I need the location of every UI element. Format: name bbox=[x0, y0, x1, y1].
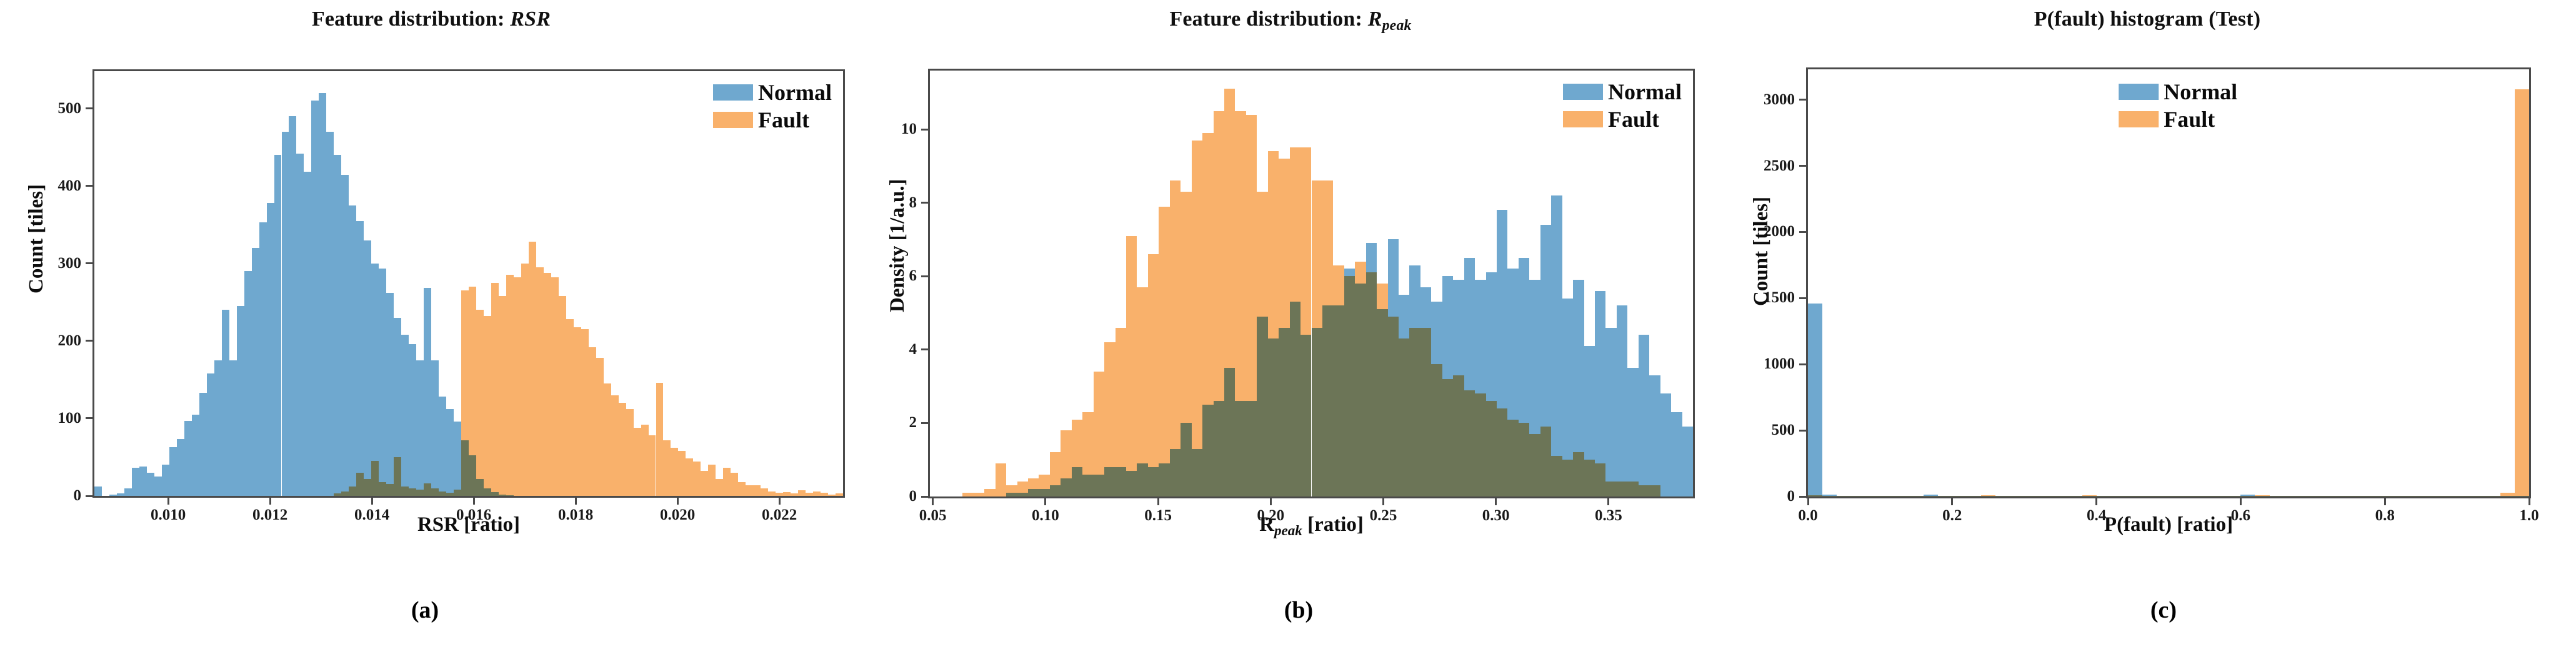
y-axis-tick-label: 0 bbox=[862, 488, 917, 505]
legend-swatch-normal-icon bbox=[1563, 84, 1603, 100]
y-axis-tick bbox=[1799, 99, 1806, 101]
histogram-bar bbox=[2327, 496, 2342, 497]
histogram-bar bbox=[2284, 496, 2299, 497]
histogram-bar bbox=[1442, 379, 1453, 496]
histogram-bar bbox=[566, 319, 574, 496]
panel-a-plot-area: Normal Fault bbox=[92, 69, 845, 498]
panel-c-fault-bars bbox=[1808, 69, 2529, 496]
histogram-bar bbox=[379, 482, 386, 496]
histogram-bar bbox=[1808, 495, 1822, 496]
histogram-bar bbox=[1938, 496, 1952, 497]
legend-item-fault: Fault bbox=[2119, 106, 2237, 133]
histogram-bar bbox=[2313, 496, 2327, 497]
histogram-bar bbox=[2024, 496, 2039, 497]
histogram-bar bbox=[1497, 408, 1507, 496]
histogram-bar bbox=[1924, 496, 1938, 497]
histogram-bar bbox=[1865, 496, 1880, 497]
histogram-bar bbox=[356, 473, 364, 496]
panel-b-caption: (b) bbox=[1284, 596, 1313, 624]
histogram-bar bbox=[2399, 496, 2414, 497]
x-axis-tick bbox=[2095, 498, 2097, 505]
x-axis-tick bbox=[1157, 498, 1159, 505]
y-axis-tick-label: 500 bbox=[0, 100, 81, 117]
x-axis-tick bbox=[371, 498, 373, 505]
histogram-bar bbox=[2097, 496, 2111, 497]
histogram-bar bbox=[2472, 496, 2486, 497]
histogram-bar bbox=[984, 489, 995, 496]
histogram-bar bbox=[1431, 364, 1442, 496]
x-axis-tick bbox=[1382, 498, 1384, 505]
histogram-bar bbox=[2385, 496, 2399, 497]
histogram-bar bbox=[476, 310, 484, 496]
histogram-bar bbox=[1409, 328, 1420, 496]
histogram-bar bbox=[1192, 141, 1202, 496]
histogram-bar bbox=[2010, 496, 2024, 497]
histogram-bar bbox=[1137, 287, 1147, 496]
panel-a-title: Feature distribution: RSR bbox=[0, 7, 862, 34]
histogram-bar bbox=[1126, 236, 1137, 496]
histogram-bar bbox=[663, 440, 671, 496]
x-axis-tick bbox=[1270, 498, 1272, 505]
histogram-bar bbox=[521, 264, 529, 496]
histogram-bar bbox=[2500, 493, 2515, 496]
legend-item-normal: Normal bbox=[1563, 78, 1682, 106]
histogram-bar bbox=[671, 448, 678, 496]
y-axis-tick bbox=[921, 422, 928, 424]
histogram-bar bbox=[461, 290, 469, 496]
histogram-bar bbox=[1605, 482, 1616, 496]
histogram-bar bbox=[962, 493, 973, 496]
panel-b-ylabel: Density [1/a.u.] bbox=[886, 179, 909, 312]
histogram-bar bbox=[491, 283, 499, 496]
x-axis-tick bbox=[2529, 498, 2530, 505]
histogram-bar bbox=[559, 296, 566, 496]
histogram-bar bbox=[1290, 147, 1300, 496]
panel-c-legend: Normal Fault bbox=[2119, 78, 2237, 133]
histogram-bar bbox=[1995, 496, 2010, 497]
histogram-bar bbox=[746, 485, 753, 496]
histogram-bar bbox=[409, 488, 416, 496]
histogram-bar bbox=[806, 493, 813, 496]
panel-a-ylabel: Count [tiles] bbox=[25, 184, 48, 294]
histogram-bar bbox=[1475, 393, 1485, 496]
x-axis-tick bbox=[1951, 498, 1953, 505]
x-axis-tick bbox=[779, 498, 781, 505]
x-axis-tick bbox=[1807, 498, 1809, 505]
y-axis-tick-label: 0 bbox=[1719, 488, 1795, 505]
histogram-bar bbox=[604, 383, 611, 496]
x-axis-tick bbox=[167, 498, 169, 505]
histogram-bar bbox=[701, 471, 708, 496]
panel-b-xlabel: Rpeak [ratio] bbox=[928, 513, 1695, 539]
histogram-bar bbox=[349, 487, 356, 496]
y-axis-tick bbox=[1799, 496, 1806, 498]
histogram-bar bbox=[776, 493, 783, 496]
histogram-bar bbox=[1507, 420, 1518, 496]
histogram-bar bbox=[649, 435, 656, 496]
y-axis-tick-label: 2500 bbox=[1719, 157, 1795, 175]
panel-a-fault-bars bbox=[94, 71, 843, 496]
histogram-bar bbox=[836, 493, 843, 496]
histogram-bar bbox=[1822, 496, 1837, 497]
legend-swatch-fault-icon bbox=[2119, 111, 2159, 127]
histogram-bar bbox=[2255, 495, 2269, 496]
histogram-bar bbox=[2039, 496, 2053, 497]
histogram-bar bbox=[2111, 496, 2125, 497]
panel-b: Feature distribution: Rpeak Normal Fault… bbox=[862, 0, 1719, 657]
histogram-bar bbox=[996, 463, 1006, 496]
panel-a-legend: Normal Fault bbox=[713, 79, 832, 134]
legend-item-normal: Normal bbox=[2119, 78, 2237, 106]
histogram-bar bbox=[1322, 180, 1333, 496]
histogram-bar bbox=[2370, 496, 2385, 497]
histogram-bar bbox=[1981, 495, 1995, 496]
histogram-bar bbox=[1094, 372, 1104, 496]
histogram-bar bbox=[2457, 496, 2472, 497]
histogram-bar bbox=[2053, 496, 2067, 497]
y-axis-tick bbox=[86, 107, 92, 109]
panel-a: Feature distribution: RSR Normal Fault 0… bbox=[0, 0, 862, 657]
histogram-bar bbox=[1562, 460, 1573, 496]
histogram-bar bbox=[1366, 272, 1377, 496]
histogram-bar bbox=[1028, 478, 1039, 496]
legend-label-fault: Fault bbox=[1608, 108, 1659, 131]
histogram-bar bbox=[2067, 496, 2082, 497]
histogram-bar bbox=[1312, 180, 1322, 496]
histogram-bar bbox=[439, 492, 446, 496]
legend-label-normal: Normal bbox=[1608, 81, 1682, 103]
histogram-bar bbox=[693, 462, 701, 496]
legend-item-fault: Fault bbox=[1563, 106, 1682, 133]
histogram-bar bbox=[619, 403, 626, 496]
histogram-bar bbox=[761, 488, 768, 496]
histogram-bar bbox=[2226, 496, 2240, 497]
histogram-bar bbox=[791, 493, 798, 496]
histogram-bar bbox=[1420, 328, 1431, 496]
histogram-bar bbox=[1909, 496, 1924, 497]
x-axis-tick bbox=[1495, 498, 1497, 505]
histogram-bar bbox=[454, 490, 461, 496]
histogram-bar bbox=[686, 458, 693, 496]
histogram-bar bbox=[611, 395, 619, 496]
histogram-bar bbox=[2486, 496, 2500, 497]
histogram-bar bbox=[753, 485, 761, 496]
histogram-bar bbox=[1584, 460, 1595, 496]
x-axis-tick bbox=[677, 498, 679, 505]
histogram-bar bbox=[1453, 375, 1464, 496]
histogram-bar bbox=[386, 484, 394, 496]
histogram-bar bbox=[596, 358, 604, 496]
legend-swatch-fault-icon bbox=[713, 112, 753, 128]
histogram-bar bbox=[1300, 147, 1311, 496]
y-axis-tick bbox=[1799, 363, 1806, 365]
histogram-bar bbox=[529, 242, 536, 496]
histogram-bar bbox=[514, 277, 521, 496]
y-axis-tick-label: 200 bbox=[0, 332, 81, 350]
histogram-bar bbox=[2154, 496, 2169, 497]
histogram-bar bbox=[1649, 485, 1660, 496]
panel-a-xlabel: RSR [ratio] bbox=[92, 513, 845, 539]
histogram-bar bbox=[1050, 452, 1061, 496]
panel-a-caption: (a) bbox=[411, 596, 439, 624]
histogram-bar bbox=[1344, 276, 1355, 496]
histogram-bar bbox=[1235, 111, 1246, 496]
histogram-bar bbox=[2169, 496, 2183, 497]
histogram-bar bbox=[2299, 496, 2313, 497]
histogram-bar bbox=[446, 493, 454, 496]
y-axis-tick bbox=[86, 262, 92, 264]
y-axis-tick bbox=[921, 275, 928, 277]
histogram-bar bbox=[2515, 89, 2529, 496]
y-axis-tick bbox=[921, 202, 928, 204]
histogram-bar bbox=[1486, 401, 1497, 496]
x-axis-tick bbox=[1044, 498, 1046, 505]
histogram-bar bbox=[641, 425, 649, 496]
histogram-bar bbox=[581, 329, 589, 496]
histogram-bar bbox=[1257, 192, 1267, 496]
histogram-bar bbox=[1104, 342, 1115, 496]
histogram-bar bbox=[2443, 496, 2457, 497]
histogram-bar bbox=[401, 487, 409, 496]
histogram-bar bbox=[828, 495, 836, 496]
panel-b-plot-area: Normal Fault bbox=[928, 69, 1695, 498]
legend-label-fault: Fault bbox=[2164, 108, 2215, 131]
y-axis-tick-label: 10 bbox=[862, 121, 917, 138]
histogram-bar bbox=[1399, 338, 1409, 496]
histogram-bar bbox=[1170, 180, 1181, 496]
legend-swatch-normal-icon bbox=[713, 84, 753, 101]
histogram-bar bbox=[1851, 496, 1865, 497]
histogram-bar bbox=[2125, 496, 2140, 497]
panel-c-caption: (c) bbox=[2150, 596, 2177, 624]
histogram-bar bbox=[1464, 390, 1475, 497]
y-axis-tick bbox=[1799, 231, 1806, 233]
histogram-bar bbox=[2428, 496, 2442, 497]
y-axis-tick bbox=[86, 185, 92, 187]
y-axis-tick bbox=[86, 417, 92, 419]
histogram-bar bbox=[1627, 482, 1638, 496]
histogram-bar bbox=[1246, 115, 1257, 496]
x-axis-tick bbox=[473, 498, 475, 505]
histogram-bar bbox=[536, 267, 544, 496]
histogram-bar bbox=[656, 383, 664, 496]
y-axis-tick bbox=[1799, 297, 1806, 299]
x-axis-tick bbox=[1607, 498, 1609, 505]
histogram-bar bbox=[1072, 420, 1082, 496]
y-axis-tick-label: 0 bbox=[0, 487, 81, 505]
legend-swatch-fault-icon bbox=[1563, 111, 1603, 127]
histogram-bar bbox=[738, 482, 746, 496]
histogram-bar bbox=[783, 492, 791, 496]
histogram-bar bbox=[1573, 452, 1584, 496]
histogram-bar bbox=[1224, 89, 1235, 496]
x-axis-tick bbox=[932, 498, 934, 505]
y-axis-tick-label: 3000 bbox=[1719, 91, 1795, 109]
histogram-bar bbox=[678, 451, 686, 496]
figure-root: Feature distribution: RSR Normal Fault 0… bbox=[0, 0, 2576, 657]
histogram-bar bbox=[974, 493, 984, 496]
histogram-bar bbox=[634, 428, 641, 496]
histogram-bar bbox=[1617, 482, 1627, 496]
panel-c-xlabel: P(fault) [ratio] bbox=[1806, 513, 2531, 536]
histogram-bar bbox=[1519, 423, 1529, 496]
histogram-bar bbox=[1202, 133, 1213, 496]
histogram-bar bbox=[394, 457, 401, 496]
histogram-bar bbox=[1061, 430, 1071, 496]
y-axis-tick-label: 4 bbox=[862, 341, 917, 358]
y-axis-tick-label: 1000 bbox=[1719, 355, 1795, 373]
histogram-bar bbox=[1529, 434, 1540, 496]
histogram-bar bbox=[499, 296, 506, 496]
x-axis-tick bbox=[575, 498, 577, 505]
histogram-bar bbox=[1894, 496, 1909, 497]
histogram-bar bbox=[1377, 284, 1387, 496]
y-axis-tick bbox=[921, 348, 928, 350]
histogram-bar bbox=[1967, 496, 1981, 497]
histogram-bar bbox=[1540, 427, 1551, 496]
histogram-bar bbox=[626, 409, 634, 496]
histogram-bar bbox=[2240, 496, 2255, 497]
histogram-bar bbox=[424, 483, 431, 496]
histogram-bar bbox=[813, 492, 821, 496]
histogram-bar bbox=[341, 492, 349, 496]
histogram-bar bbox=[484, 316, 491, 496]
histogram-bar bbox=[731, 473, 738, 496]
panel-c-plot-area: Normal Fault bbox=[1806, 67, 2531, 498]
histogram-bar bbox=[1388, 317, 1399, 496]
histogram-bar bbox=[2140, 496, 2154, 497]
histogram-bar bbox=[1837, 496, 1851, 497]
panel-c-ylabel: Count [tiles] bbox=[1750, 197, 1773, 306]
histogram-bar bbox=[551, 277, 559, 496]
y-axis-tick-label: 500 bbox=[1719, 422, 1795, 439]
histogram-bar bbox=[1159, 207, 1169, 496]
histogram-bar bbox=[431, 488, 439, 496]
histogram-bar bbox=[716, 479, 723, 496]
histogram-bar bbox=[1006, 485, 1017, 496]
histogram-bar bbox=[2270, 496, 2284, 497]
histogram-bar bbox=[2183, 496, 2197, 497]
panel-c: P(fault) histogram (Test) Normal Fault 0… bbox=[1719, 0, 2576, 657]
panel-b-title: Feature distribution: Rpeak bbox=[862, 7, 1719, 34]
histogram-bar bbox=[364, 479, 371, 496]
histogram-bar bbox=[589, 347, 596, 496]
histogram-bar bbox=[708, 465, 716, 496]
y-axis-tick-label: 100 bbox=[0, 410, 81, 427]
histogram-bar bbox=[2197, 496, 2212, 497]
histogram-bar bbox=[1148, 254, 1159, 496]
histogram-bar bbox=[1551, 456, 1562, 496]
histogram-bar bbox=[416, 490, 424, 496]
histogram-bar bbox=[1116, 328, 1126, 496]
x-axis-tick bbox=[269, 498, 271, 505]
legend-label-normal: Normal bbox=[2164, 81, 2237, 103]
histogram-bar bbox=[1333, 265, 1344, 496]
histogram-bar bbox=[574, 327, 581, 496]
histogram-bar bbox=[2414, 496, 2428, 497]
histogram-bar bbox=[821, 493, 828, 496]
histogram-bar bbox=[1880, 496, 1894, 497]
histogram-bar bbox=[544, 273, 551, 496]
legend-item-normal: Normal bbox=[713, 79, 832, 106]
histogram-bar bbox=[1952, 496, 1967, 497]
y-axis-tick bbox=[921, 496, 928, 498]
histogram-bar bbox=[1355, 262, 1365, 496]
histogram-bar bbox=[469, 287, 476, 496]
y-axis-tick bbox=[1799, 165, 1806, 167]
histogram-bar bbox=[334, 493, 341, 496]
legend-item-fault: Fault bbox=[713, 106, 832, 134]
histogram-bar bbox=[768, 492, 776, 496]
histogram-bar bbox=[1595, 463, 1605, 496]
panel-b-legend: Normal Fault bbox=[1563, 78, 1682, 133]
histogram-bar bbox=[1181, 192, 1191, 496]
histogram-bar bbox=[1039, 475, 1049, 496]
panel-b-fault-bars bbox=[930, 71, 1693, 496]
panel-c-title: P(fault) histogram (Test) bbox=[1719, 7, 2576, 31]
histogram-bar bbox=[1214, 111, 1224, 496]
legend-label-fault: Fault bbox=[758, 109, 809, 131]
legend-swatch-normal-icon bbox=[2119, 84, 2159, 100]
histogram-bar bbox=[2212, 496, 2226, 497]
y-axis-tick bbox=[1799, 430, 1806, 432]
legend-label-normal: Normal bbox=[758, 81, 832, 104]
y-axis-tick bbox=[86, 340, 92, 342]
histogram-bar bbox=[1017, 482, 1028, 496]
histogram-bar bbox=[723, 468, 731, 496]
histogram-bar bbox=[371, 461, 379, 496]
histogram-bar bbox=[1082, 412, 1093, 496]
y-axis-tick-label: 2 bbox=[862, 414, 917, 432]
histogram-bar bbox=[2342, 496, 2356, 497]
x-axis-tick bbox=[2240, 498, 2242, 505]
histogram-bar bbox=[2356, 496, 2370, 497]
histogram-bar bbox=[2082, 495, 2097, 496]
histogram-bar bbox=[1268, 151, 1279, 496]
y-axis-tick bbox=[921, 129, 928, 131]
histogram-bar bbox=[1639, 485, 1649, 496]
histogram-bar bbox=[506, 275, 514, 496]
y-axis-tick bbox=[86, 495, 92, 497]
histogram-bar bbox=[798, 490, 806, 496]
x-axis-tick bbox=[2384, 498, 2386, 505]
histogram-bar bbox=[1279, 159, 1289, 496]
